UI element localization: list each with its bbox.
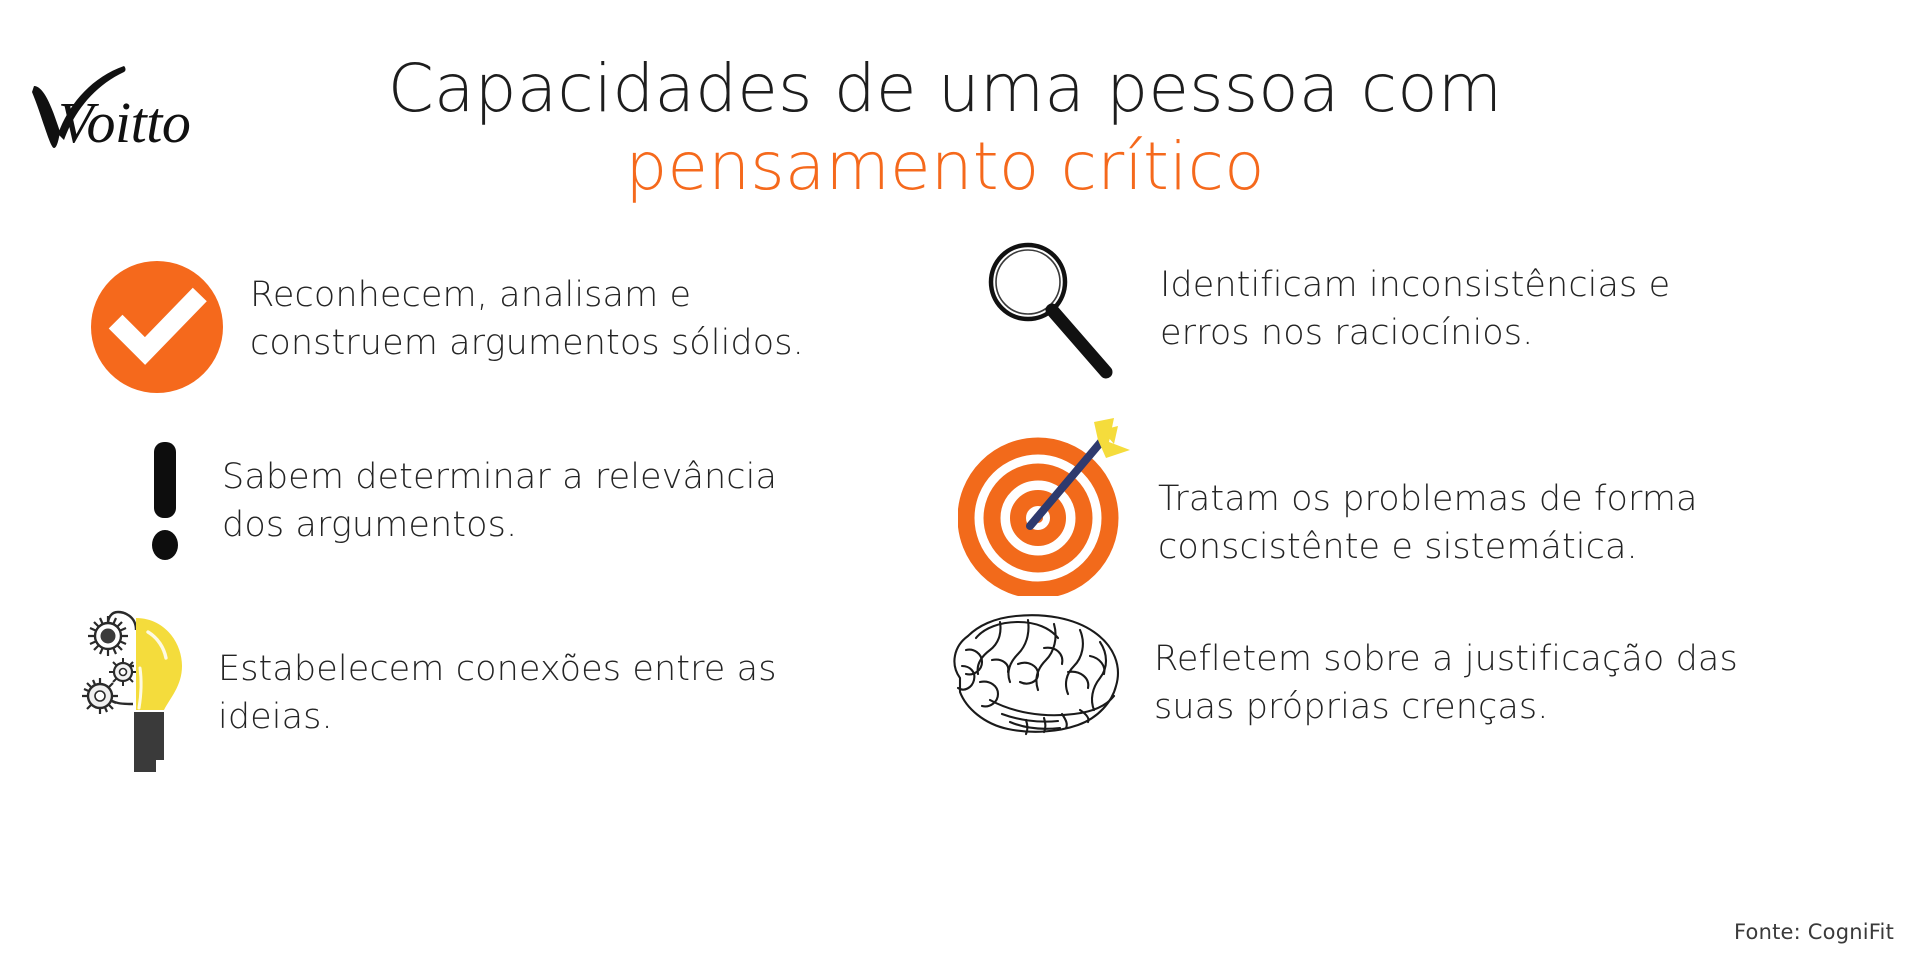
infographic-canvas: Voitto Capacidades de uma pessoa com pen… — [0, 0, 1920, 958]
page-title-line1: Capacidades de uma pessoa com — [230, 52, 1660, 126]
capability-text-5: Estabelecem conexões entre as ideias. — [218, 646, 777, 742]
capability-text-5-line1: Estabelecem conexões entre as — [218, 646, 777, 694]
capability-item-1: Reconhecem, analisam e construem argumen… — [82, 246, 842, 402]
source-attribution: Fonte: CogniFit — [1734, 920, 1894, 944]
capability-text-4: Tratam os problemas de forma conscistênt… — [1158, 476, 1698, 572]
capability-text-3-line1: Sabem determinar a relevância — [222, 454, 777, 502]
capability-text-6-line2: suas próprias crenças. — [1154, 684, 1738, 732]
capability-text-2-line1: Identificam inconsistências e — [1160, 262, 1670, 310]
logo-wordmark: Voitto — [58, 90, 190, 152]
capability-item-2: Identificam inconsistências e erros nos … — [960, 236, 1840, 386]
magnifying-glass-icon — [960, 236, 1140, 386]
lightbulb-gears-icon — [78, 596, 208, 776]
capability-text-6-line1: Refletem sobre a justificação das — [1154, 636, 1738, 684]
title-block: Capacidades de uma pessoa com pensamento… — [230, 52, 1660, 206]
exclamation-mark-icon — [130, 440, 200, 570]
capability-item-3: Sabem determinar a relevância dos argume… — [130, 436, 870, 570]
check-circle-icon — [82, 252, 232, 402]
capability-text-3-line2: dos argumentos. — [222, 502, 777, 550]
capabilities-grid: Reconhecem, analisam e construem argumen… — [0, 236, 1920, 896]
capability-text-6: Refletem sobre a justificação das suas p… — [1154, 636, 1738, 732]
target-arrow-icon — [958, 416, 1148, 596]
capability-item-4: Tratam os problemas de forma conscistênt… — [958, 416, 1848, 596]
capability-text-5-line2: ideias. — [218, 694, 777, 742]
capability-text-3: Sabem determinar a relevância dos argume… — [222, 454, 777, 550]
capability-text-2: Identificam inconsistências e erros nos … — [1160, 262, 1670, 358]
capability-text-4-line1: Tratam os problemas de forma — [1158, 476, 1698, 524]
capability-text-1: Reconhecem, analisam e construem argumen… — [250, 272, 804, 368]
capability-text-1-line2: construem argumentos sólidos. — [250, 320, 804, 368]
capability-text-4-line2: conscistênte e sistemática. — [1158, 524, 1698, 572]
capability-text-2-line2: erros nos raciocínios. — [1160, 310, 1670, 358]
capability-text-1-line1: Reconhecem, analisam e — [250, 272, 804, 320]
capability-item-6: Refletem sobre a justificação das suas p… — [940, 608, 1860, 738]
capability-item-5: Estabelecem conexões entre as ideias. — [78, 596, 858, 776]
page-title-line2: pensamento crítico — [230, 128, 1660, 206]
voitto-logo[interactable]: Voitto — [28, 56, 218, 152]
brain-icon — [940, 608, 1140, 738]
